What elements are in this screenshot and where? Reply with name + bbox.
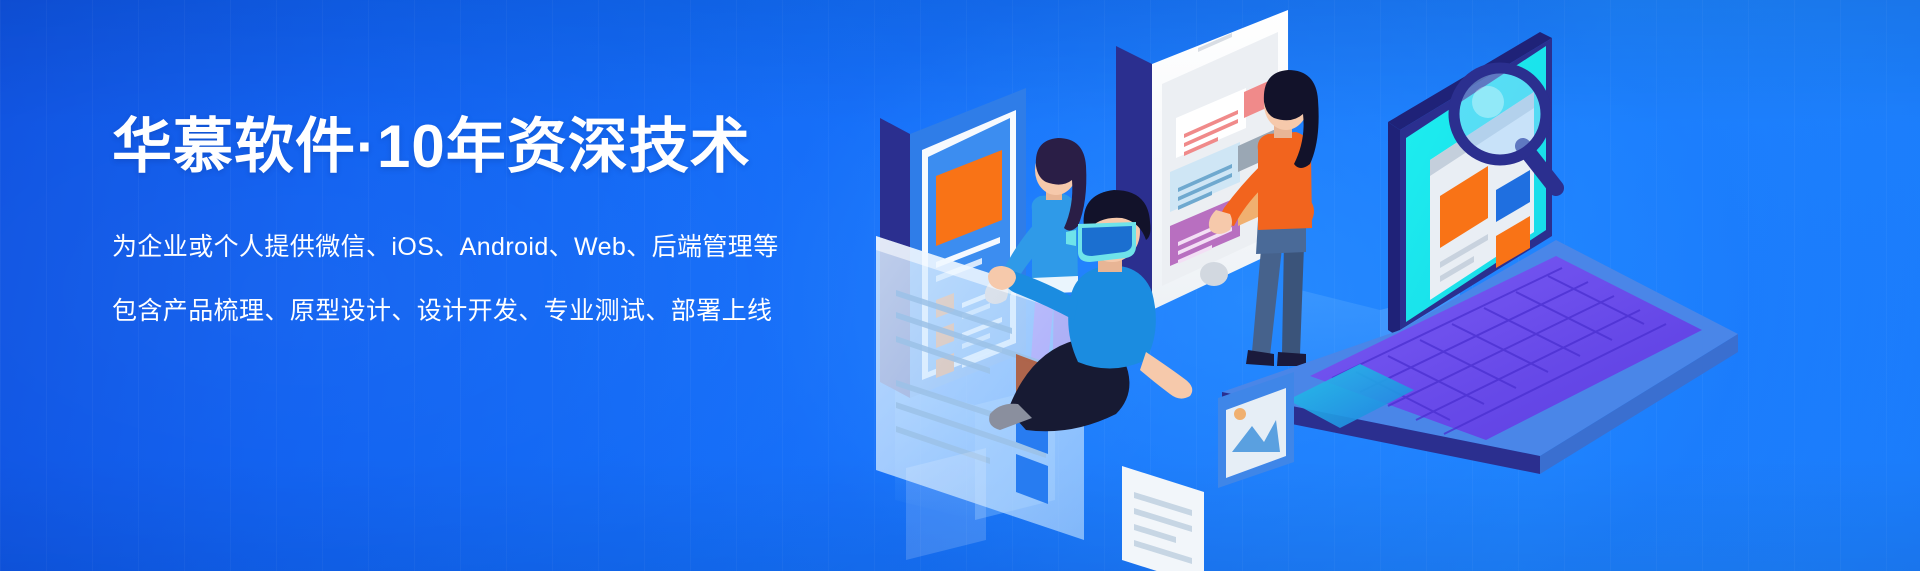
banner-subtitle-block: 为企业或个人提供微信、iOS、Android、Web、后端管理等 包含产品梳理、… [112, 231, 892, 329]
banner-headline: 华慕软件·10年资深技术 [112, 112, 892, 183]
banner-subtitle-line-1: 为企业或个人提供微信、iOS、Android、Web、后端管理等 [112, 231, 892, 265]
hero-illustration [840, 0, 1920, 571]
image-card [1218, 372, 1294, 488]
banner-copy-block: 华慕软件·10年资深技术 为企业或个人提供微信、iOS、Android、Web、… [112, 112, 892, 328]
hero-banner: 华慕软件·10年资深技术 为企业或个人提供微信、iOS、Android、Web、… [0, 0, 1920, 571]
document-card-small [1122, 466, 1208, 571]
banner-subtitle-line-2: 包含产品梳理、原型设计、设计开发、专业测试、部署上线 [112, 295, 892, 329]
